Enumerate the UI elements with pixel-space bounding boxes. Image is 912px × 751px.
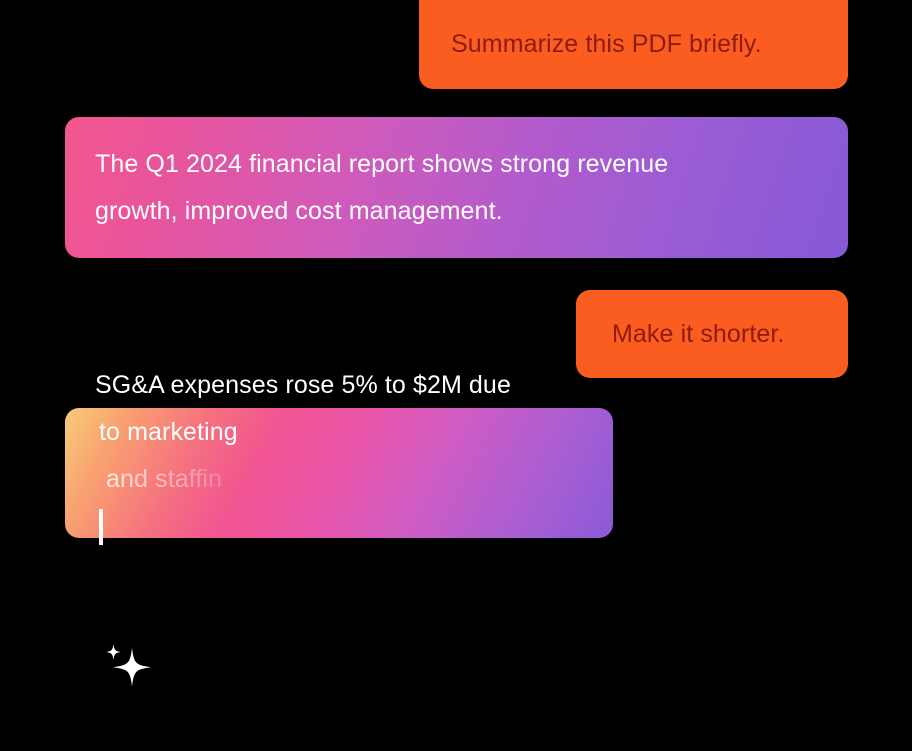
ai-sparkle-icon (99, 548, 155, 594)
chat-canvas: Summarize this PDF briefly. The Q1 2024 … (0, 0, 912, 588)
assistant-streaming-line-2: to marketing and staffin (95, 409, 583, 585)
assistant-streaming-pending-text: and staffin (99, 456, 222, 503)
text-caret (99, 509, 103, 545)
user-message-bubble-2[interactable]: Make it shorter. (576, 290, 848, 378)
assistant-streaming-line-1: SG&A expenses rose 5% to $2M due (95, 362, 583, 409)
assistant-streaming-committed-text: to marketing (99, 409, 238, 456)
assistant-message-bubble-1[interactable]: The Q1 2024 financial report shows stron… (65, 117, 848, 258)
user-message-text-1: Summarize this PDF briefly. (451, 21, 762, 68)
user-message-bubble-1[interactable]: Summarize this PDF briefly. (419, 0, 848, 89)
user-message-text-2: Make it shorter. (612, 311, 785, 358)
assistant-message-line-2: growth, improved cost management. (95, 188, 818, 235)
assistant-message-line-1: The Q1 2024 financial report shows stron… (95, 141, 818, 188)
assistant-message-bubble-2[interactable]: SG&A expenses rose 5% to $2M due to mark… (65, 408, 613, 538)
